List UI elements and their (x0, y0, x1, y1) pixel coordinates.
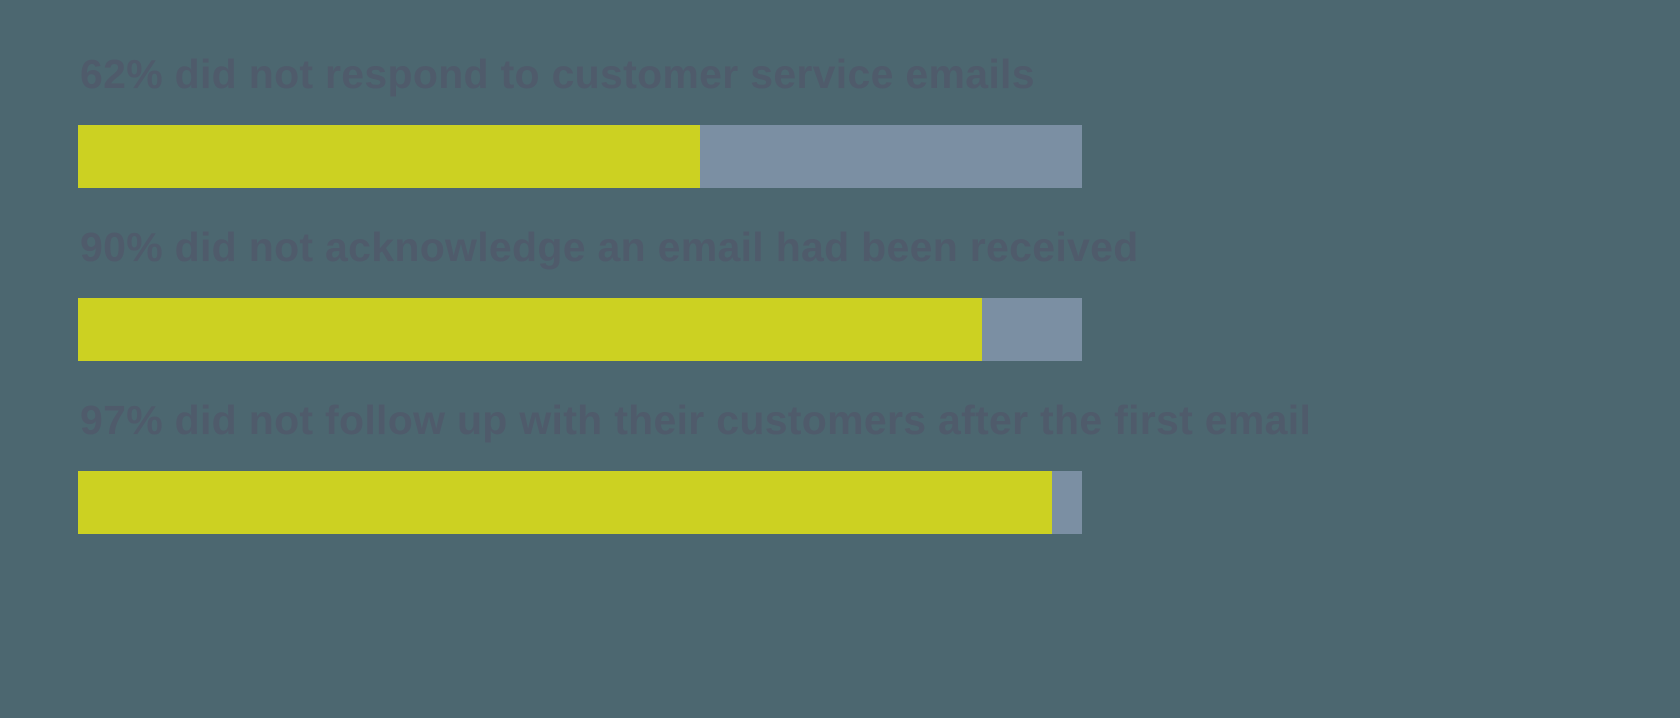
stat-row: 90% did not acknowledge an email had bee… (78, 225, 1608, 361)
stat-label: 90% did not acknowledge an email had bee… (78, 225, 1608, 270)
stat-label: 97% did not follow up with their custome… (78, 398, 1608, 443)
stat-row: 97% did not follow up with their custome… (78, 398, 1608, 534)
stat-bar-track (78, 471, 1082, 534)
email-statistics-infographic: 62% did not respond to customer service … (0, 0, 1680, 718)
stat-bar-track (78, 125, 1082, 188)
stat-label: 62% did not respond to customer service … (78, 52, 1608, 97)
stat-bar-track (78, 298, 1082, 361)
stat-bar-fill (78, 298, 982, 361)
stat-bar-fill (78, 125, 700, 188)
stat-list: 62% did not respond to customer service … (78, 52, 1608, 534)
stat-row: 62% did not respond to customer service … (78, 52, 1608, 188)
stat-bar-fill (78, 471, 1052, 534)
